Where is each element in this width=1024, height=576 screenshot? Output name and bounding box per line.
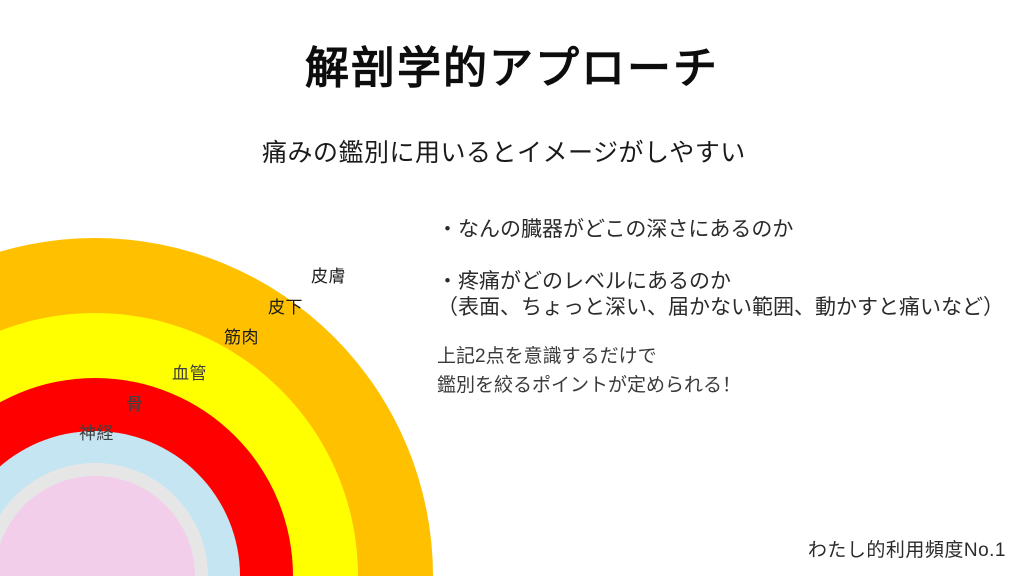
bullet-item-pain-level: ・疼痛がどのレベルにあるのか <box>437 268 731 295</box>
bullet-item-pain-level-examples: （表面、ちょっと深い、届かない範囲、動かすと痛いなど） <box>437 294 1004 321</box>
layer-label-nerve: 神経 <box>79 425 114 442</box>
footnote-usage-frequency: わたし的利用頻度No.1 <box>808 535 1006 562</box>
layer-label-bone: 骨 <box>126 396 144 413</box>
layer-label-blood-vessel: 血管 <box>172 365 207 382</box>
summary-text: 上記2点を意識するだけで 鑑別を絞るポイントが定められる！ <box>437 342 741 401</box>
layer-label-subcutaneous: 皮下 <box>268 299 303 316</box>
layer-label-skin: 皮膚 <box>311 268 346 285</box>
slide-subtitle: 痛みの鑑別に用いるとイメージがしやすい <box>262 138 746 168</box>
slide-canvas: 皮膚 皮下 筋肉 血管 骨 神経 解剖学的アプローチ 痛みの鑑別に用いるとイメー… <box>0 0 1024 576</box>
bullet-item-organ-depth: ・なんの臓器がどこの深さにあるのか <box>437 216 793 243</box>
slide-title: 解剖学的アプローチ <box>0 44 1024 95</box>
layer-label-muscle: 筋肉 <box>224 329 259 346</box>
